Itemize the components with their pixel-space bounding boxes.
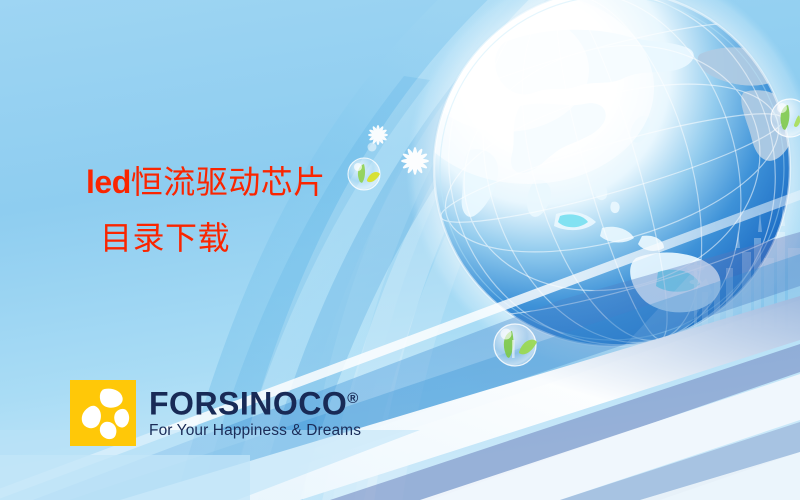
brand-wordmark-group: FORSINOCO® For Your Happiness & Dreams xyxy=(149,382,361,440)
flower-burst-small xyxy=(368,125,388,145)
earth-globe xyxy=(402,0,800,384)
globe-halo xyxy=(406,0,800,374)
brand-tagline: For Your Happiness & Dreams xyxy=(149,422,361,440)
city-skyline-silhouette xyxy=(687,204,800,328)
brand-logo-lockup[interactable]: FORSINOCO® For Your Happiness & Dreams xyxy=(70,380,361,446)
headline-latin-prefix: led xyxy=(86,164,131,200)
brand-name: FORSINOCO® xyxy=(149,382,361,421)
four-petal-pinwheel-icon xyxy=(70,380,136,446)
flower-burst-large xyxy=(401,147,429,175)
headline-line-2: 目录下载 xyxy=(100,216,326,260)
bubble-tiny xyxy=(368,143,377,152)
continents xyxy=(462,30,794,324)
longitude-lines xyxy=(407,0,800,384)
headline-cjk-rest: 恒流驱动芯片 xyxy=(131,164,326,200)
banner-canvas: led恒流驱动芯片 目录下载 FORSINOCO® For Your Happi… xyxy=(0,0,800,500)
headline-line-1: led恒流驱动芯片 xyxy=(86,160,326,204)
skyline-light-beams xyxy=(620,268,712,360)
bubble-leaf-lower xyxy=(494,324,537,366)
brand-name-text: FORSINOCO xyxy=(149,386,347,422)
bubble-leaf-right xyxy=(771,99,800,137)
registered-trademark-icon: ® xyxy=(347,390,358,407)
headline-block: led恒流驱动芯片 目录下载 xyxy=(86,160,326,260)
latitude-lines xyxy=(427,10,797,328)
bubble-leaf-left xyxy=(348,158,380,190)
